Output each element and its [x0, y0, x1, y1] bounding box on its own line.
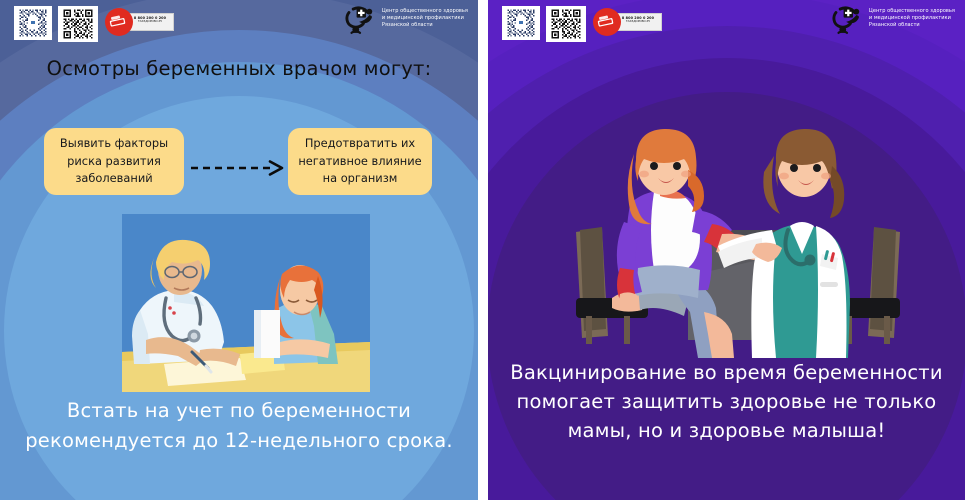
panel-divider	[478, 0, 488, 500]
right-header-bar: 8 800 200 0 200 ТАКЗДОРОВО.РУ Центр обще…	[488, 0, 965, 46]
left-title: Осмотры беременных врачом могут:	[0, 54, 478, 84]
right-poster-panel: 8 800 200 0 200 ТАКЗДОРОВО.РУ Центр обще…	[488, 0, 965, 500]
vk-qr-icon	[504, 8, 538, 38]
infographic-stage: 8 800 200 0 200 ТАКЗДОРОВО.РУ Центр обще…	[0, 0, 965, 500]
vaccination-illustration	[576, 126, 900, 358]
hotline-site: ТАКЗДОРОВО.РУ	[615, 20, 661, 24]
brand-text-block: Центр общественного здоровья и медицинск…	[382, 4, 468, 30]
organization-brand: Центр общественного здоровья и медицинск…	[343, 4, 468, 38]
health-center-logo-icon	[830, 4, 864, 38]
site-qr-icon	[548, 8, 584, 40]
left-header-bar: 8 800 200 0 200 ТАКЗДОРОВО.РУ Центр обще…	[0, 0, 478, 46]
site-qr-code[interactable]	[58, 6, 98, 42]
brand-line-3: Рязанской области	[382, 22, 468, 29]
megaphone-icon	[108, 14, 130, 30]
vk-qr-code[interactable]	[502, 6, 540, 40]
site-qr-code[interactable]	[546, 6, 586, 42]
hotline-number-plate: 8 800 200 0 200 ТАКЗДОРОВО.РУ	[126, 13, 174, 31]
callout-box-risk-factors: Выявить факторы риска развития заболеван…	[44, 128, 184, 195]
megaphone-icon	[596, 14, 618, 30]
doctor-examining-pregnant-woman-icon	[576, 126, 900, 358]
hotline-number-plate: 8 800 200 0 200 ТАКЗДОРОВО.РУ	[614, 13, 662, 31]
vk-qr-icon	[16, 8, 50, 38]
callout-row: Выявить факторы риска развития заболеван…	[0, 128, 478, 208]
hotline-site: ТАКЗДОРОВО.РУ	[127, 20, 173, 24]
site-qr-icon	[60, 8, 96, 40]
organization-brand: Центр общественного здоровья и медицинск…	[830, 4, 955, 38]
hotline-badge-icon	[105, 8, 133, 36]
brand-text-block: Центр общественного здоровья и медицинск…	[869, 4, 955, 30]
left-bottom-text: Встать на учет по беременности рекоменду…	[0, 396, 478, 456]
dashed-arrow-right-icon	[190, 159, 286, 177]
callout-box-prevent-impact: Предотвратить их негативное влияние на о…	[288, 128, 432, 195]
brand-line-3: Рязанской области	[869, 22, 955, 29]
doctor-patient-illustration	[122, 214, 370, 392]
health-center-logo-icon	[343, 4, 377, 38]
doctor-writing-illustration-icon	[122, 214, 370, 392]
right-bottom-text: Вакцинирование во время беременности пом…	[488, 358, 965, 445]
hotline-badge-icon	[593, 8, 621, 36]
left-poster-panel: 8 800 200 0 200 ТАКЗДОРОВО.РУ Центр обще…	[0, 0, 478, 500]
vk-qr-code[interactable]	[14, 6, 52, 40]
